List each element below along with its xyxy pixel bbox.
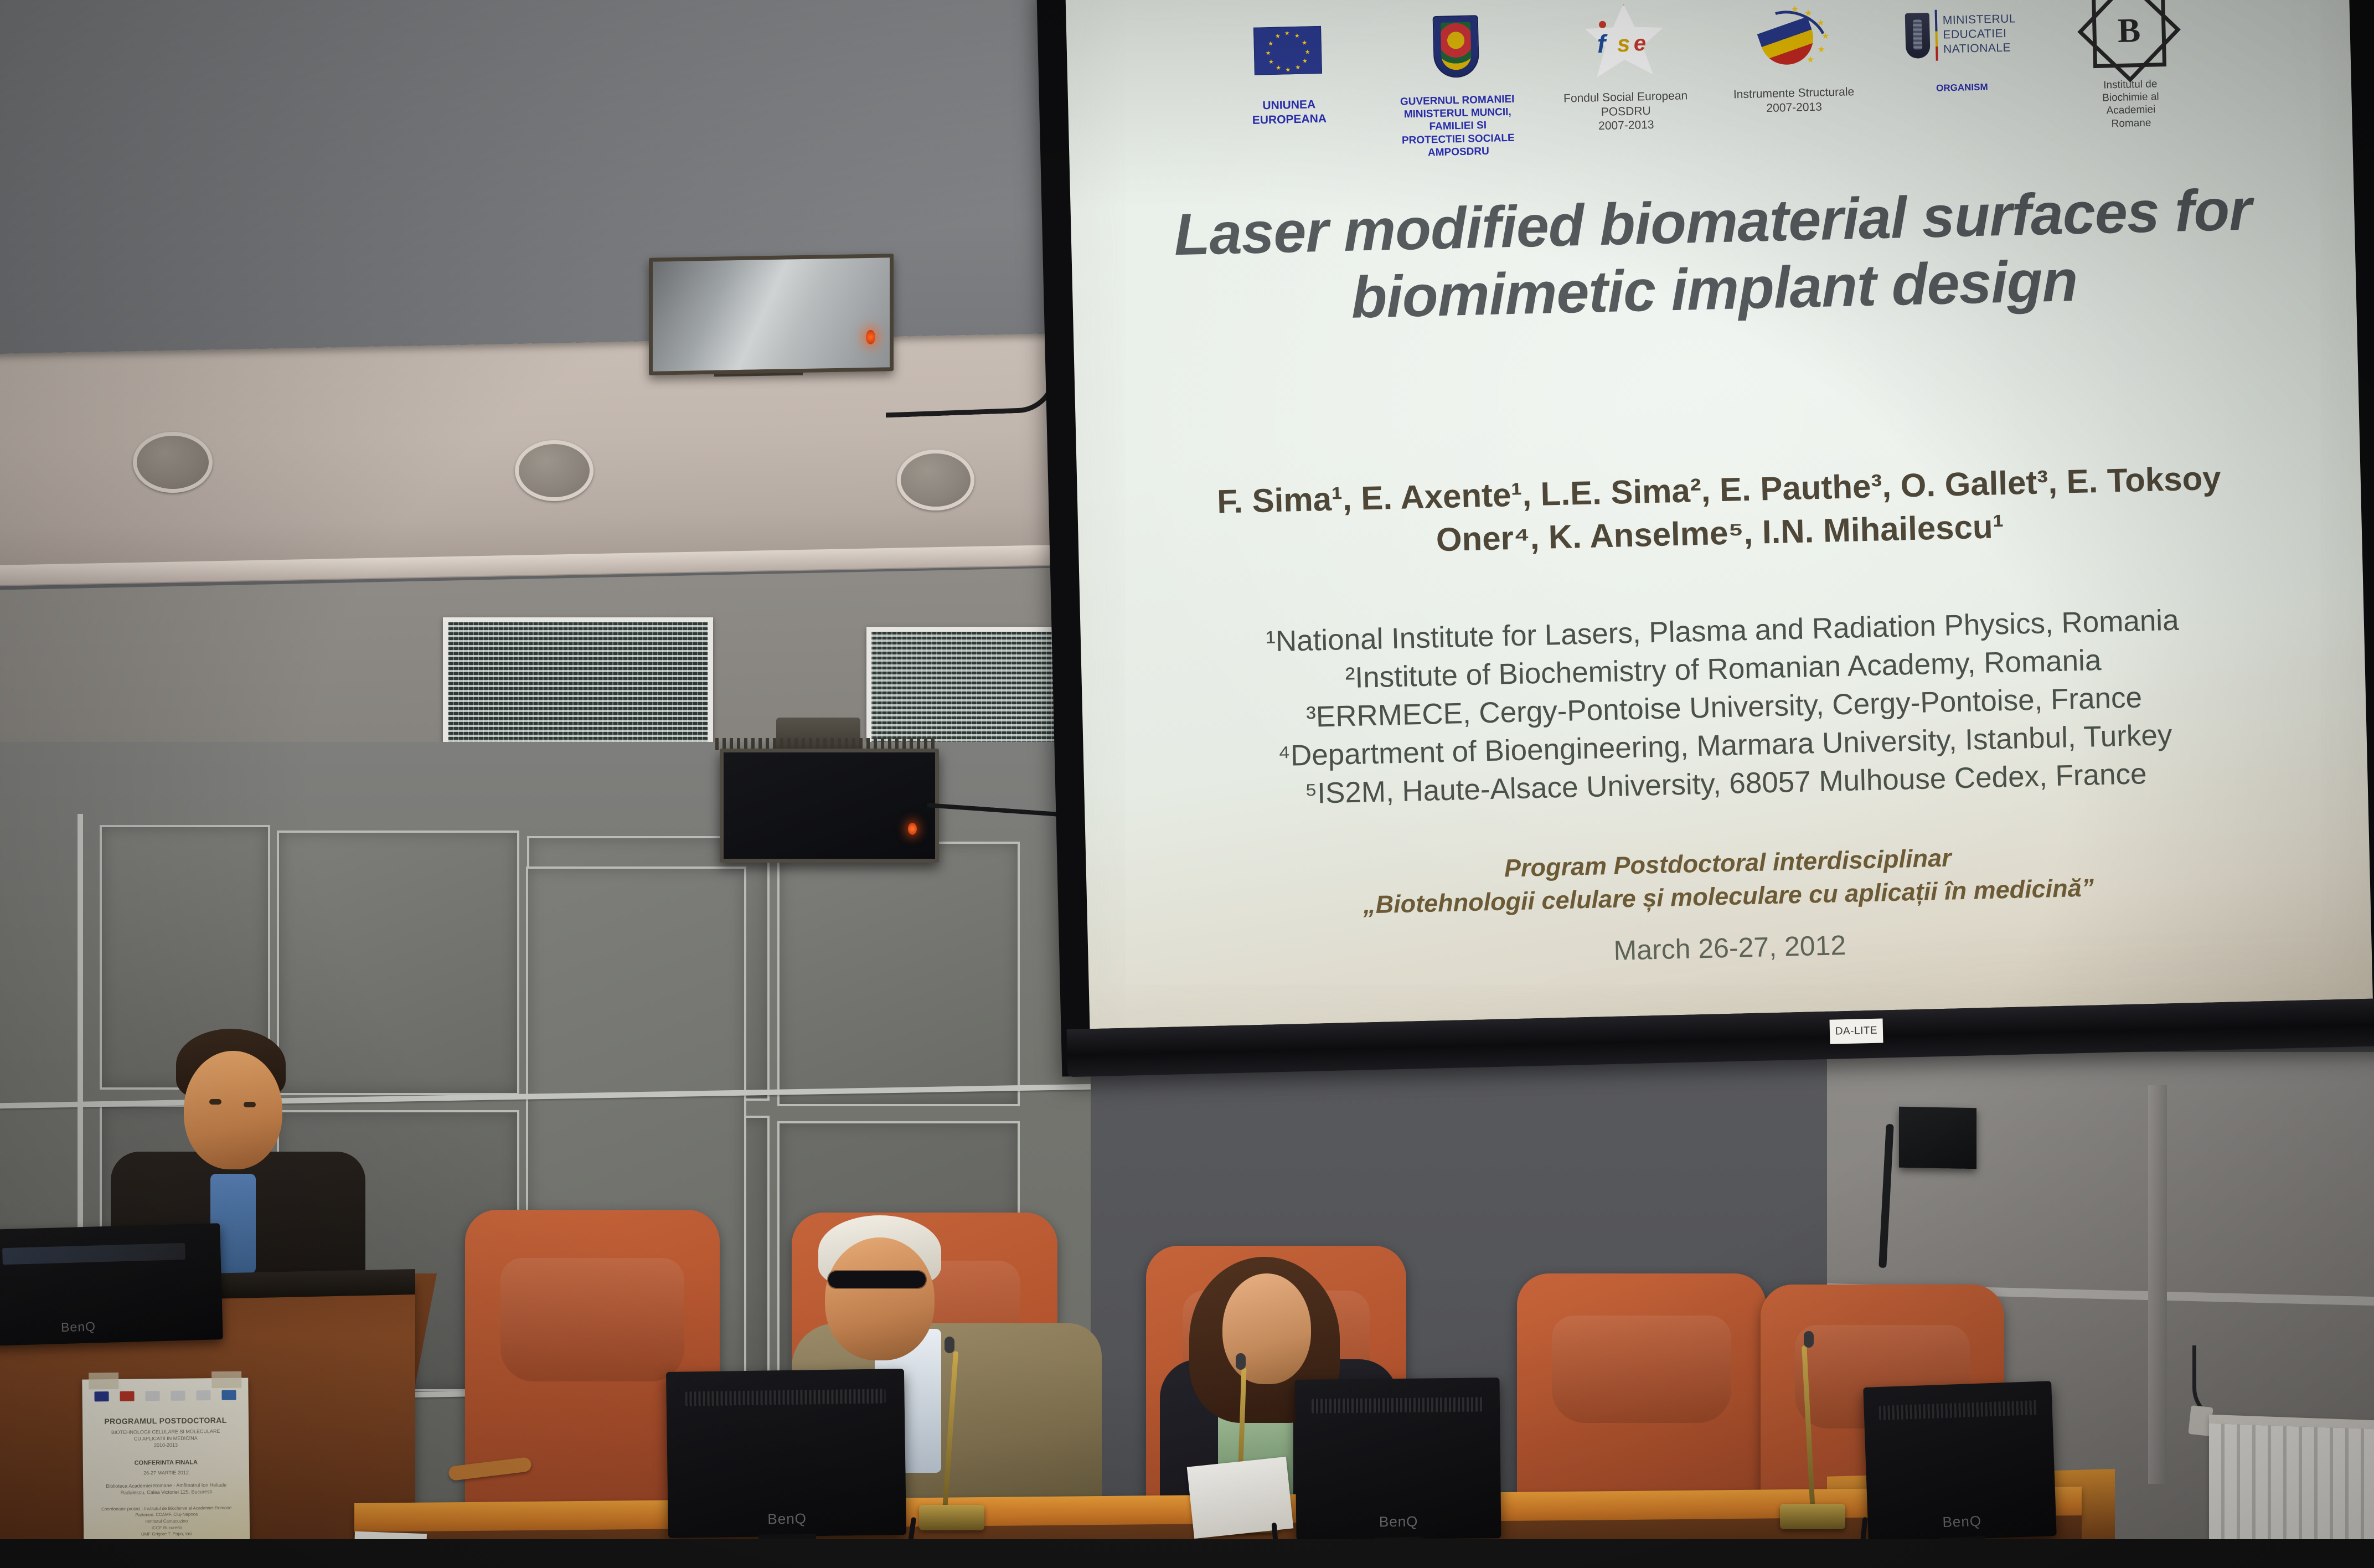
poster-tape xyxy=(211,1371,241,1389)
desk-monitor[interactable]: BenQ xyxy=(666,1369,906,1538)
poster-fse-logo-icon xyxy=(145,1391,159,1401)
ceiling-speaker-icon xyxy=(897,450,974,510)
logo-caption-line: MINISTERUL xyxy=(1943,12,2016,28)
desk-monitor-brand: BenQ xyxy=(1867,1510,2056,1534)
desk-monitor[interactable]: BenQ xyxy=(1294,1378,1501,1540)
black-wall-monitor[interactable] xyxy=(720,749,939,863)
institutul-de-biochimie-logo: B Institutul de Biochimie al Academiei R… xyxy=(2063,0,2197,131)
logo-caption-line: EDUCATIEI xyxy=(1943,26,2016,42)
romanian-coat-of-arms-icon xyxy=(1432,2,1480,91)
speaker-eye xyxy=(209,1099,221,1105)
panelist-right-head xyxy=(1222,1273,1311,1384)
podium-monitor-screen xyxy=(2,1243,185,1265)
slide-author-list: F. Sima¹, E. Axente¹, L.E. Sima², E. Pau… xyxy=(1160,455,2279,568)
poster-gov-logo-icon xyxy=(120,1391,134,1401)
ceiling-speaker-icon xyxy=(133,432,213,493)
desk-monitor-brand: BenQ xyxy=(668,1509,906,1529)
poster-conference-date: 26-27 MARTIE 2012 xyxy=(83,1469,249,1477)
poster-logo-row xyxy=(82,1390,248,1401)
power-led-icon xyxy=(908,823,917,835)
slide-program-name: Program Postdoctoral interdisciplinar „B… xyxy=(1169,833,2287,926)
microphone-head-icon xyxy=(1236,1353,1246,1370)
fse-star-icon: fse xyxy=(1582,0,1667,88)
monitor-vent xyxy=(1311,1397,1483,1413)
poster-subtitle: BIOTEHNOLOGII CELULARE SI MOLECULARE CU … xyxy=(82,1427,249,1450)
speaker-head xyxy=(184,1051,282,1169)
slide-date: March 26-27, 2012 xyxy=(1171,919,2289,977)
ceiling-speaker-icon xyxy=(515,440,593,501)
logo-caption-line: PROTECTIEI SOCIALE AMPOSDRU xyxy=(1393,131,1524,160)
ministry-crest-icon: MINISTERUL EDUCATIEI NATIONALE xyxy=(1905,0,2017,80)
silver-wall-monitor[interactable] xyxy=(649,254,894,375)
panelist-left-head xyxy=(825,1237,935,1360)
poster-ministry-logo-icon xyxy=(196,1390,210,1400)
slide-logo-row: UNIUNEA EUROPEANA GUVERNUL ROMANIEI MINI… xyxy=(1066,0,2352,168)
logo-caption-line: Instrumente Structurale xyxy=(1733,85,1855,102)
podium-monitor-brand: BenQ xyxy=(61,1319,96,1335)
microphone-base[interactable] xyxy=(919,1505,984,1530)
ministerul-educatiei-nationale-logo: MINISTERUL EDUCATIEI NATIONALE ORGANISM xyxy=(1895,0,2027,95)
power-led-icon xyxy=(866,330,875,344)
projection-screen: UNIUNEA EUROPEANA GUVERNUL ROMANIEI MINI… xyxy=(1036,0,2374,1096)
logo-caption-line: Biochimie al xyxy=(2102,90,2159,105)
instrumente-structurale-logo: Instrumente Structurale 2007-2013 xyxy=(1726,0,1860,116)
podium-monitor[interactable]: BenQ xyxy=(0,1223,223,1346)
desk-monitor-brand: BenQ xyxy=(1296,1512,1501,1531)
logo-caption-line: Romane xyxy=(2103,116,2160,131)
poster-conference: CONFERINTA FINALA xyxy=(83,1459,249,1467)
logo-caption-line: MINISTERUL MUNCII, FAMILIEI SI xyxy=(1392,106,1524,135)
slide-affiliations: ¹National Institute for Lasers, Plasma a… xyxy=(1141,599,2307,817)
microphone-head-icon xyxy=(945,1337,954,1353)
logo-caption-line: EUROPEANA xyxy=(1252,111,1327,127)
structural-instruments-icon xyxy=(1751,0,1834,84)
conference-room: UNIUNEA EUROPEANA GUVERNUL ROMANIEI MINI… xyxy=(0,0,2374,1568)
fse-logo: fse Fondul Social European POSDRU 2007-2… xyxy=(1558,0,1692,135)
screen-brand-label: DA-LITE xyxy=(1829,1019,1883,1044)
slide-title: Laser modified biomaterial surfaces for … xyxy=(1137,176,2290,337)
radiator xyxy=(2209,1415,2374,1560)
wall-corner-column xyxy=(2148,1085,2167,1484)
logo-caption-line: 2007-2013 xyxy=(1733,99,1855,116)
poster-venue: Biblioteca Academiei Romane - Amfiteatru… xyxy=(83,1481,249,1496)
logo-caption-line: Academiei xyxy=(2102,104,2159,118)
poster-title: PROGRAMUL POSTDOCTORAL xyxy=(82,1415,249,1426)
biochemistry-rosette-icon: B xyxy=(2092,0,2167,76)
monitor-cable xyxy=(886,341,1057,418)
eu-flag-icon xyxy=(1253,6,1323,96)
poster-eu-logo-icon xyxy=(94,1391,109,1401)
sunglasses-icon xyxy=(828,1271,926,1288)
poster-institute-logo-icon xyxy=(221,1390,236,1400)
poster-tape xyxy=(89,1373,118,1390)
logo-caption-line: NATIONALE xyxy=(1943,40,2017,56)
poster-subtitle-line: 2010-2013 xyxy=(82,1441,249,1450)
romanian-government-logo: GUVERNUL ROMANIEI MINISTERUL MUNCII, FAM… xyxy=(1390,1,1524,159)
logo-caption-line: 2007-2013 xyxy=(1564,117,1689,135)
floor-shadow xyxy=(0,1539,2374,1568)
presentation-slide: UNIUNEA EUROPEANA GUVERNUL ROMANIEI MINI… xyxy=(1065,0,2373,1029)
monitor-vent xyxy=(1879,1400,2037,1420)
documents-on-table[interactable] xyxy=(1187,1457,1294,1539)
logo-caption-line: Fondul Social European xyxy=(1563,89,1688,106)
microphone-head-icon xyxy=(1804,1331,1814,1348)
desk-monitor[interactable]: BenQ xyxy=(1863,1381,2057,1543)
microphone-base[interactable] xyxy=(1780,1504,1845,1529)
wall-mounted-box xyxy=(1899,1107,1976,1169)
upper-wall xyxy=(0,0,1085,365)
monitor-vent xyxy=(685,1389,886,1406)
poster-instr-logo-icon xyxy=(171,1391,185,1401)
screenshot-root: UNIUNEA EUROPEANA GUVERNUL ROMANIEI MINI… xyxy=(0,0,2374,1568)
wall-panel xyxy=(277,831,519,1095)
logo-caption-line: UNIUNEA xyxy=(1252,97,1327,114)
logo-caption-line: ORGANISM xyxy=(1936,82,1988,95)
eu-flag-logo: UNIUNEA EUROPEANA xyxy=(1221,5,1355,128)
speaker-eye xyxy=(244,1102,256,1107)
